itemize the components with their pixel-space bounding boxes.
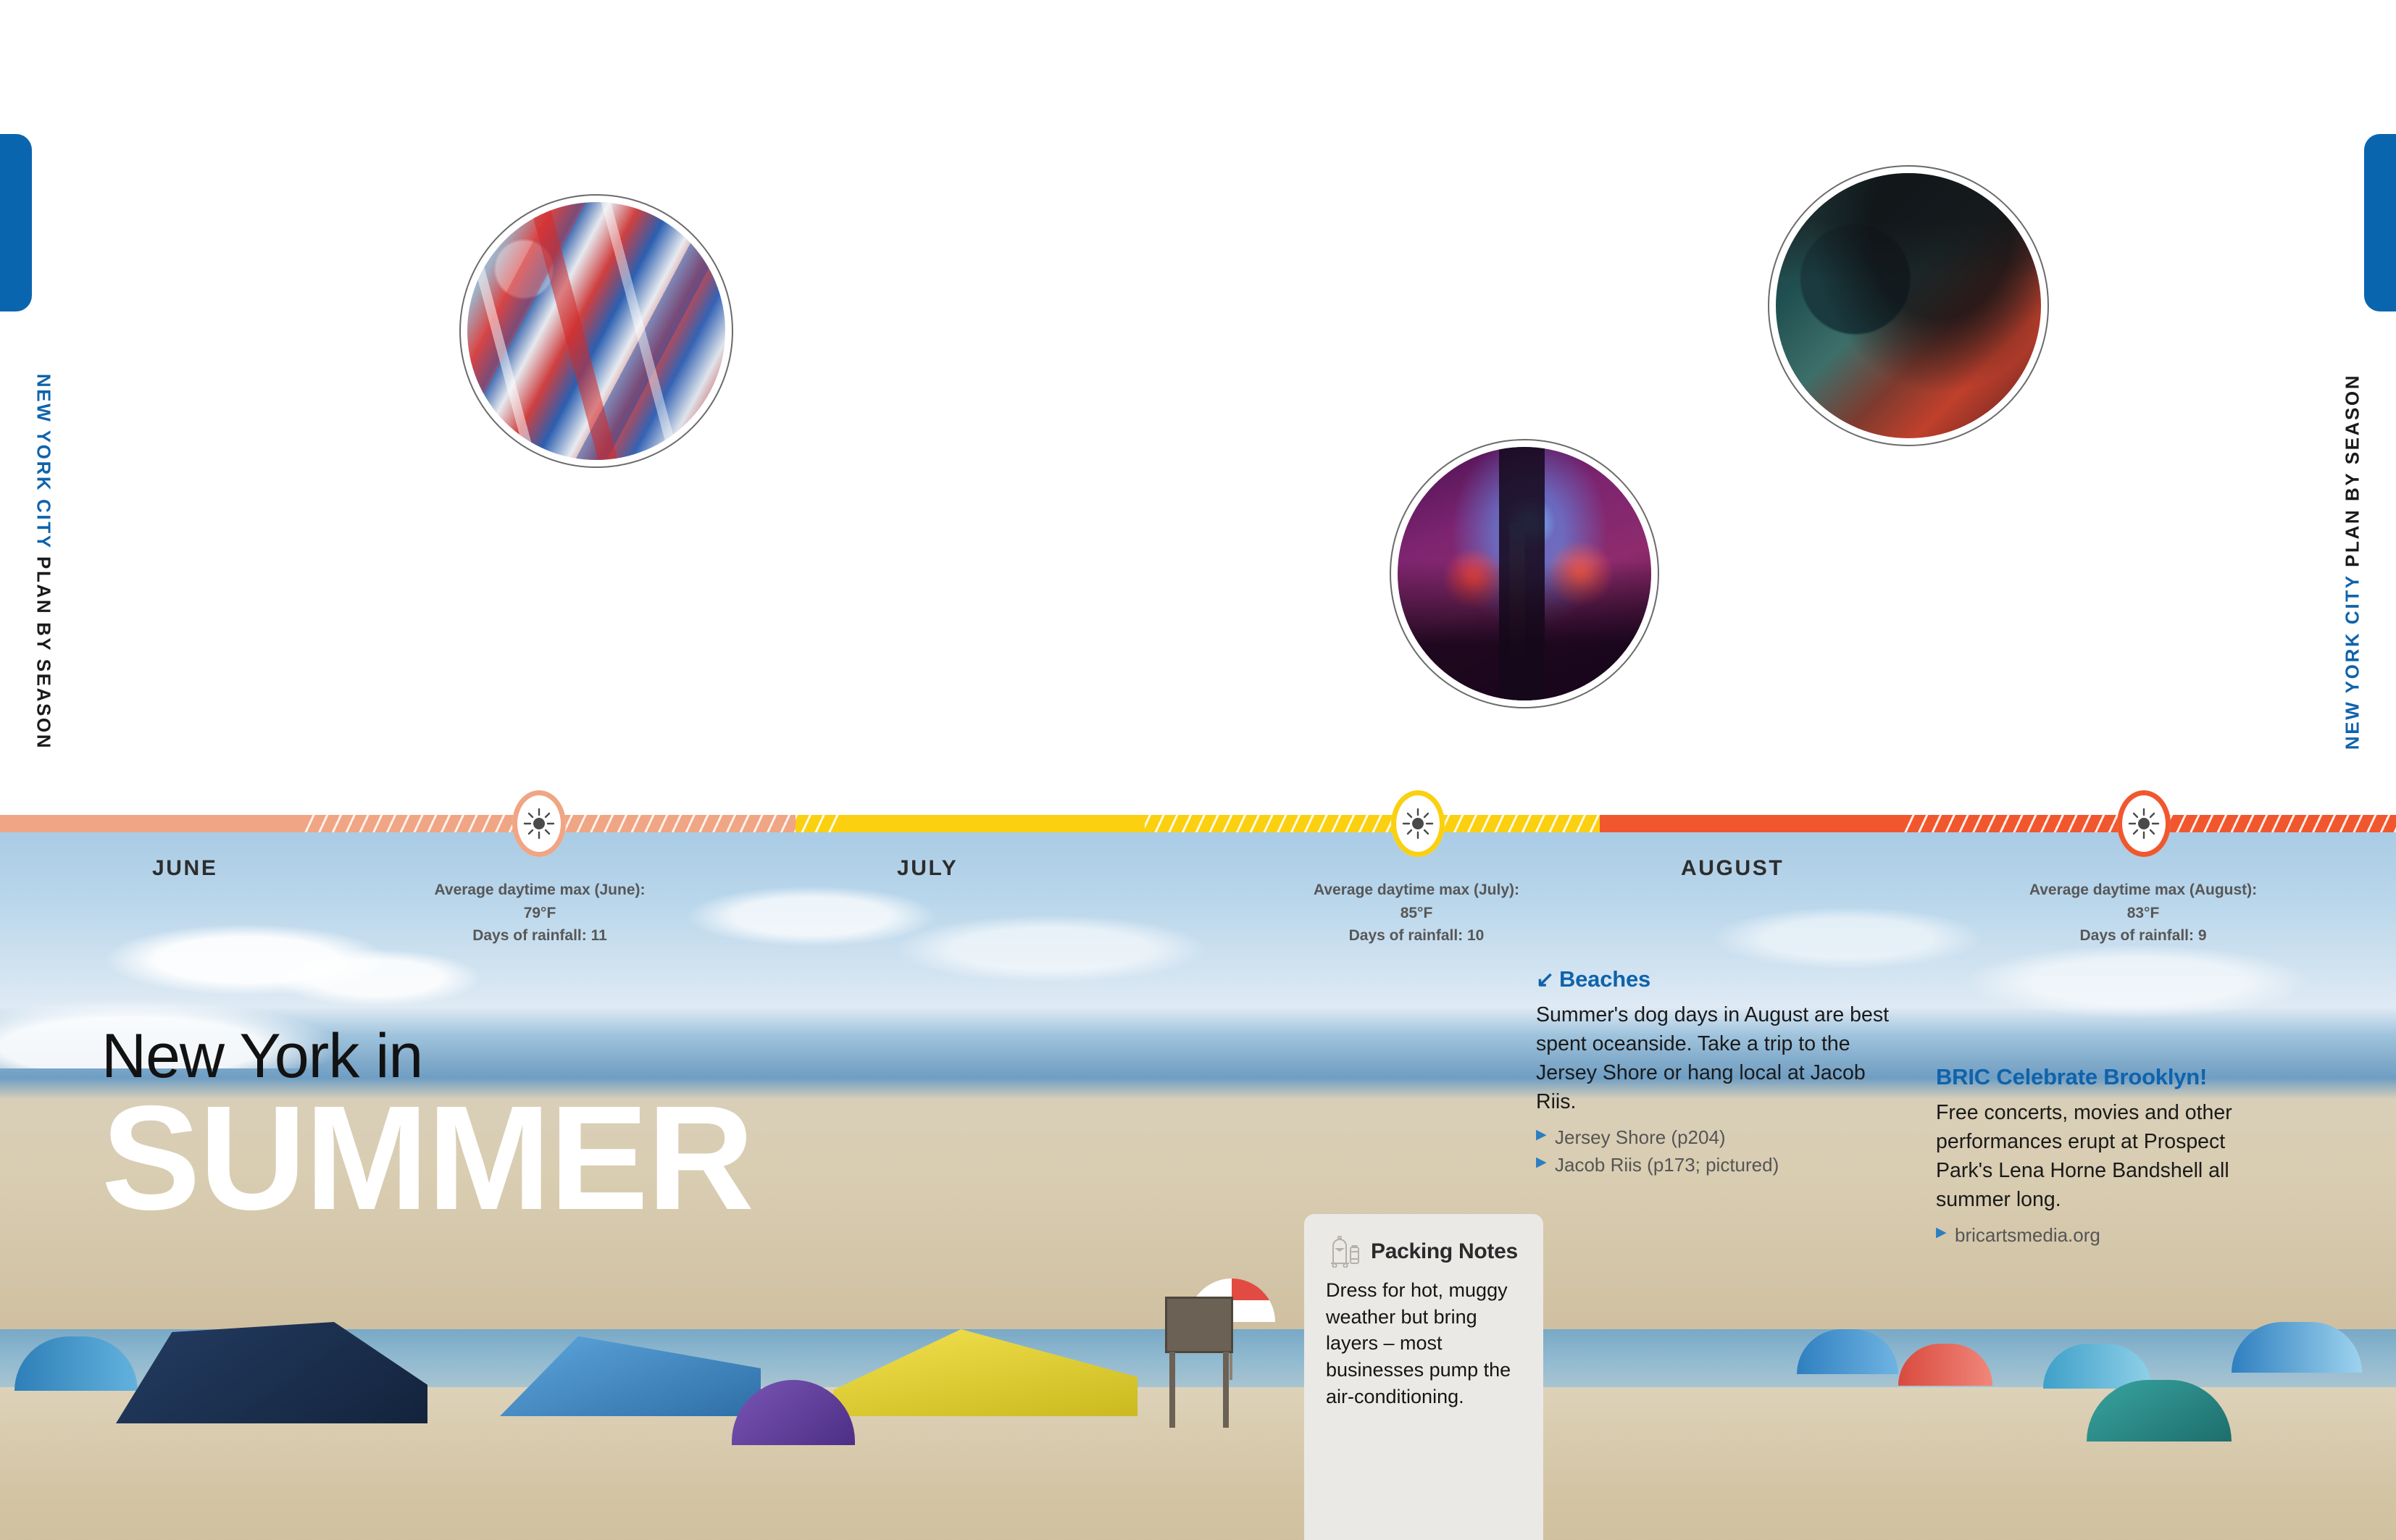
- rainfall-days: Days of rainfall: 11: [388, 924, 692, 947]
- packing-notes-header: Packing Notes: [1326, 1236, 1523, 1268]
- photo-puerto-rican-parade: [459, 194, 733, 468]
- packing-notes-body: Dress for hot, muggy weather but bring l…: [1326, 1277, 1523, 1410]
- month-label-july: JULY: [897, 856, 958, 881]
- event-title: Beaches: [1559, 966, 1650, 992]
- avg-max-label: Average daytime max (June):: [388, 879, 692, 902]
- timeline-solid-july: [840, 815, 1145, 832]
- month-label-june: JUNE: [152, 856, 217, 881]
- avg-max-value: 85°F: [1264, 902, 1569, 925]
- event-link[interactable]: Jersey Shore (p204): [1536, 1125, 1898, 1150]
- running-head-secondary: PLAN BY SEASON: [33, 556, 55, 750]
- event-bric-celebrate-brooklyn: BRIC Celebrate Brooklyn! Free concerts, …: [1936, 1065, 2247, 1250]
- chapter-tab-left: [0, 134, 32, 311]
- event-link[interactable]: bricartsmedia.org: [1936, 1223, 2247, 1248]
- avg-max-value: 83°F: [1991, 902, 2295, 925]
- luggage-trolley-icon: [1326, 1236, 1364, 1268]
- title-line-2: SUMMER: [101, 1089, 753, 1229]
- chapter-tab-right: [2364, 134, 2396, 311]
- event-links: bricartsmedia.org: [1936, 1223, 2247, 1248]
- timeline-solid-august: [1600, 815, 1904, 832]
- photo-afropunk: [1768, 165, 2049, 446]
- weather-stats-august: Average daytime max (August): 83°F Days …: [1991, 879, 2295, 947]
- month-label-august: AUGUST: [1681, 856, 1784, 881]
- event-body: Free concerts, movies and other performa…: [1936, 1099, 2247, 1215]
- lifeguard-stand: [1159, 1297, 1239, 1427]
- running-head-primary: NEW YORK CITY: [33, 374, 55, 549]
- packing-notes-card: Packing Notes Dress for hot, muggy weath…: [1304, 1214, 1543, 1540]
- event-body: Summer's dog days in August are best spe…: [1536, 1001, 1898, 1117]
- event-beaches: ↙Beaches Summer's dog days in August are…: [1536, 967, 1898, 1180]
- weather-stats-july: Average daytime max (July): 85°F Days of…: [1264, 879, 1569, 947]
- weather-stats-june: Average daytime max (June): 79°F Days of…: [388, 879, 692, 947]
- avg-max-label: Average daytime max (August):: [1991, 879, 2295, 902]
- timeline-solid-june: [0, 815, 304, 832]
- sun-icon-august: [2117, 790, 2171, 857]
- rainfall-days: Days of rainfall: 9: [1991, 924, 2295, 947]
- event-title: BRIC Celebrate Brooklyn!: [1936, 1064, 2207, 1089]
- arrow-down-left-icon: ↙: [1536, 968, 1554, 992]
- avg-max-value: 79°F: [388, 902, 692, 925]
- avg-max-label: Average daytime max (July):: [1264, 879, 1569, 902]
- rainfall-days: Days of rainfall: 10: [1264, 924, 1569, 947]
- page-title: New York in SUMMER: [101, 1025, 753, 1229]
- event-links: Jersey Shore (p204) Jacob Riis (p173; pi…: [1536, 1125, 1898, 1179]
- photo-fireworks: [1390, 439, 1659, 708]
- packing-notes-title: Packing Notes: [1371, 1239, 1518, 1264]
- running-head-primary: NEW YORK CITY: [2342, 574, 2363, 750]
- running-head-left: NEW YORK CITY PLAN BY SEASON: [33, 374, 55, 750]
- sun-icon-june: [512, 790, 566, 857]
- event-link[interactable]: Jacob Riis (p173; pictured): [1536, 1152, 1898, 1178]
- season-timeline: [0, 815, 2396, 832]
- event-heading: BRIC Celebrate Brooklyn!: [1936, 1065, 2247, 1089]
- sun-icon-july: [1391, 790, 1445, 857]
- magazine-spread: 18 19 NEW YORK CITY PLAN BY SEASON NEW Y…: [0, 0, 2396, 1540]
- running-head-right: NEW YORK CITY PLAN BY SEASON: [2342, 374, 2364, 750]
- event-heading: ↙Beaches: [1536, 967, 1898, 992]
- running-head-secondary: PLAN BY SEASON: [2342, 374, 2363, 567]
